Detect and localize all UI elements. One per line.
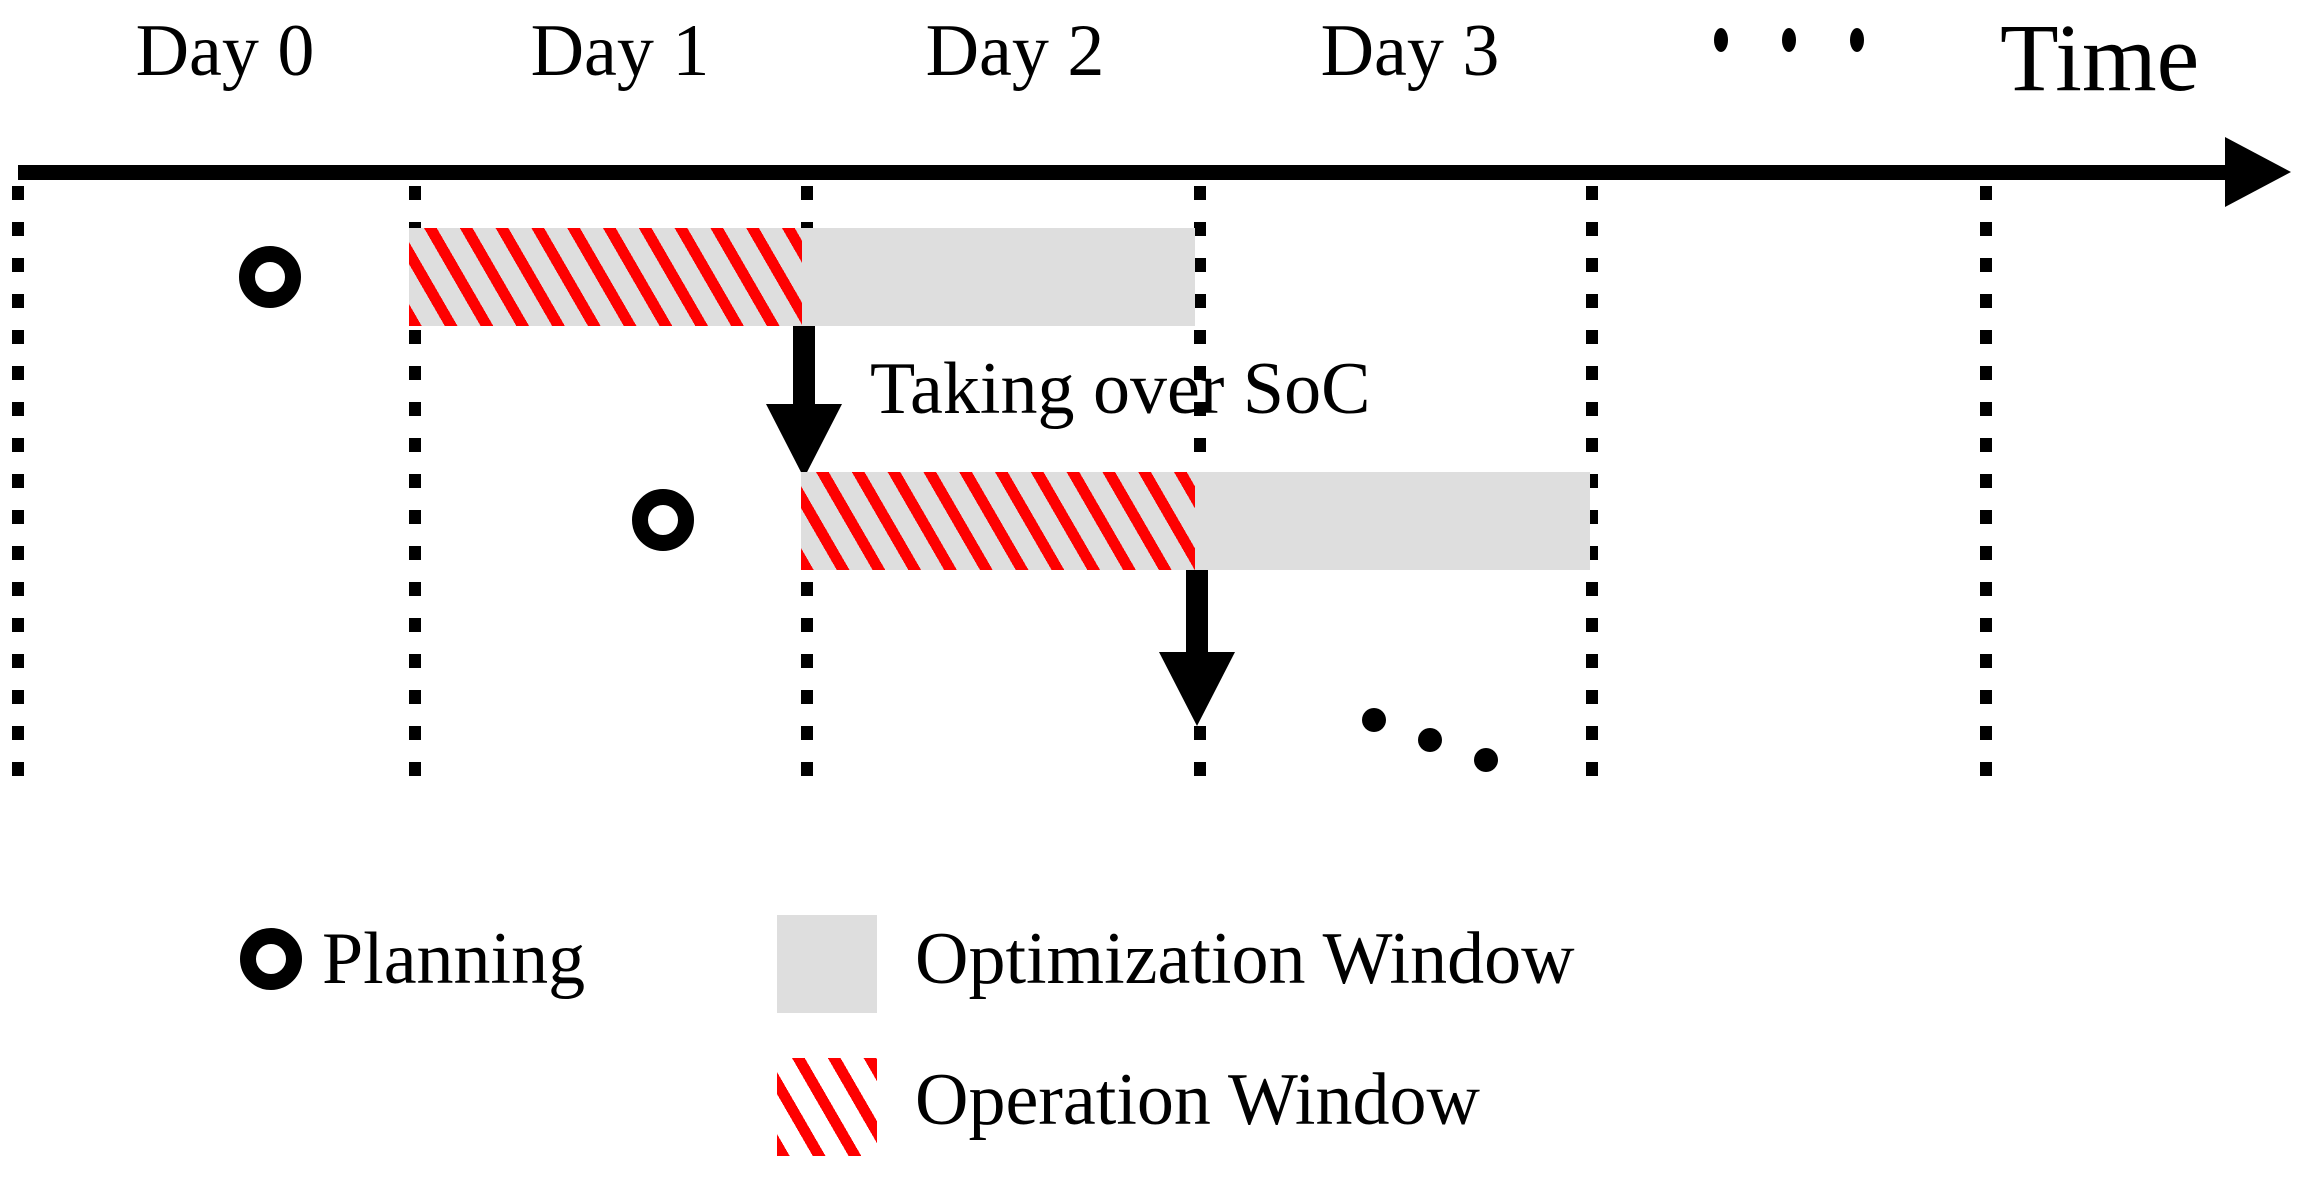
operation-window-row-1	[409, 228, 802, 326]
handoff-annotation: Taking over SoC	[870, 352, 1370, 426]
optimization-window-row-1	[801, 228, 1195, 326]
handoff-arrow-shaft-row-1	[793, 326, 815, 414]
axis-ellipsis-dot-1	[1714, 28, 1728, 52]
axis-ellipsis-dot-2	[1782, 28, 1796, 52]
day-separator-0b	[12, 546, 24, 796]
time-axis-line	[18, 165, 2248, 180]
day-separator-5	[1980, 186, 1992, 796]
planning-marker-row-1	[239, 246, 301, 308]
handoff-arrow-head-row-2	[1159, 652, 1235, 726]
timeline-diagram: Day 0 Day 1 Day 2 Day 3 Time Taking over…	[0, 0, 2309, 1177]
day-label-0: Day 0	[136, 14, 315, 88]
day-label-3: Day 3	[1321, 14, 1500, 88]
handoff-arrow-shaft-row-2	[1186, 570, 1208, 662]
legend-label-planning: Planning	[322, 922, 585, 996]
legend-planning-marker-icon	[240, 928, 302, 990]
handoff-arrow-head-row-1	[766, 404, 842, 478]
continuation-ellipsis-dot-1	[1362, 708, 1386, 732]
legend-operation-window-swatch	[777, 1058, 877, 1156]
day-label-1: Day 1	[531, 14, 710, 88]
planning-marker-row-2	[632, 489, 694, 551]
legend-label-operation-window: Operation Window	[915, 1063, 1480, 1137]
continuation-ellipsis-dot-2	[1418, 728, 1442, 752]
optimization-window-row-2	[1194, 472, 1590, 570]
day-label-2: Day 2	[926, 14, 1105, 88]
time-axis-arrowhead	[2225, 137, 2291, 207]
legend-label-optimization-window: Optimization Window	[915, 922, 1575, 996]
day-separator-0	[12, 186, 24, 546]
time-axis-label: Time	[2000, 10, 2199, 106]
operation-window-row-2	[801, 472, 1195, 570]
legend-optimization-window-swatch	[777, 915, 877, 1013]
axis-ellipsis-dot-3	[1850, 28, 1864, 52]
continuation-ellipsis-dot-3	[1474, 748, 1498, 772]
